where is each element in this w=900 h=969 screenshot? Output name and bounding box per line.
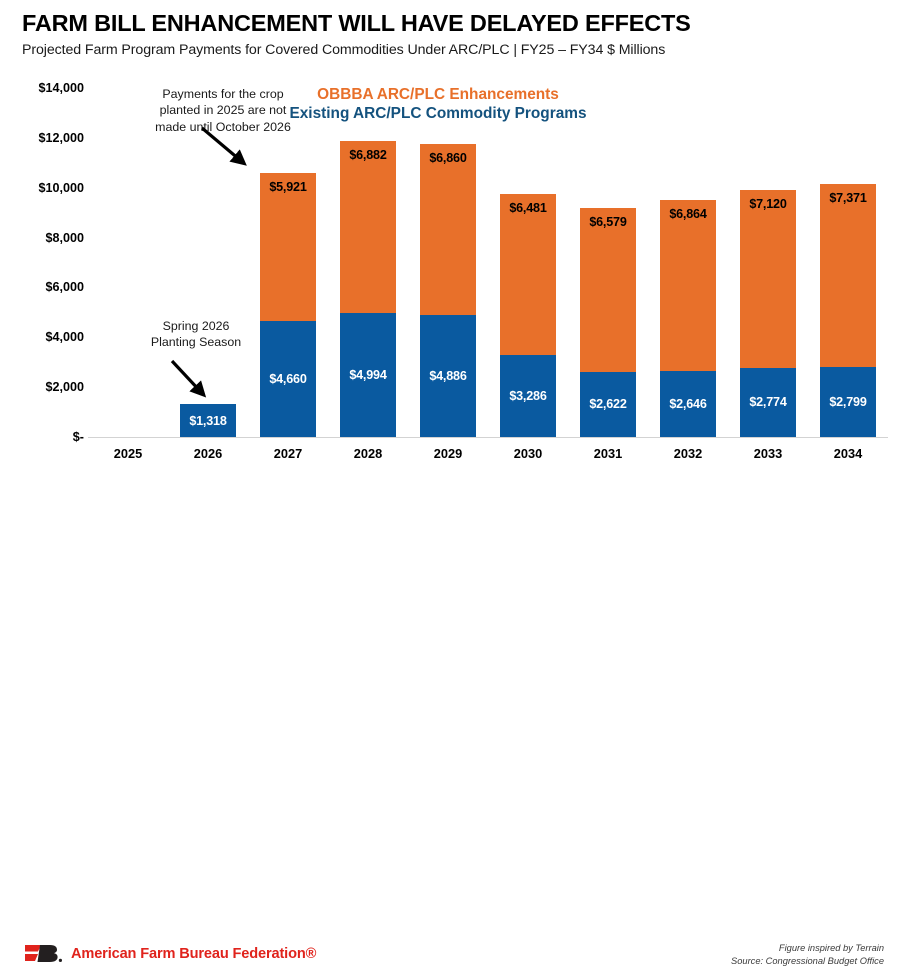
bar-segment-obbba-2032[interactable]: $6,864 <box>660 200 716 371</box>
bar-segment-obbba-2030[interactable]: $6,481 <box>500 194 556 356</box>
annotation-spring-line-1: Spring 2026 <box>112 318 280 334</box>
annotation-spring-line-2: Planting Season <box>112 334 280 350</box>
afbf-brand: American Farm Bureau Federation® <box>24 944 316 964</box>
bar-column-2028[interactable]: $4,994$6,882 <box>340 88 396 437</box>
bar-column-2031[interactable]: $2,622$6,579 <box>580 88 636 437</box>
chart-footer: American Farm Bureau Federation® Figure … <box>0 465 900 506</box>
bar-segment-obbba-2031[interactable]: $6,579 <box>580 208 636 372</box>
bar-value-label-existing-2029: $4,886 <box>429 369 466 383</box>
y-axis-tick: $10,000 <box>10 181 84 195</box>
bar-value-label-existing-2030: $3,286 <box>509 389 546 403</box>
x-axis-baseline <box>88 437 888 438</box>
bar-segment-existing-2034[interactable]: $2,799 <box>820 367 876 437</box>
y-axis-tick: $2,000 <box>10 380 84 394</box>
y-axis-tick: $4,000 <box>10 330 84 344</box>
bar-value-label-obbba-2028: $6,882 <box>349 148 386 162</box>
x-axis-tick-2027: 2027 <box>243 446 333 461</box>
bar-value-label-obbba-2030: $6,481 <box>509 201 546 215</box>
annotation-spring-planting-season: Spring 2026 Planting Season <box>112 318 280 351</box>
x-axis-tick-2034: 2034 <box>803 446 893 461</box>
bar-segment-existing-2033[interactable]: $2,774 <box>740 368 796 437</box>
y-axis-tick: $12,000 <box>10 131 84 145</box>
bar-column-2027[interactable]: $4,660$5,921 <box>260 88 316 437</box>
bar-value-label-obbba-2029: $6,860 <box>429 151 466 165</box>
bar-segment-obbba-2033[interactable]: $7,120 <box>740 190 796 367</box>
y-axis: $-$2,000$4,000$6,000$8,000$10,000$12,000… <box>0 80 84 437</box>
farm-bureau-logo-icon <box>24 944 64 964</box>
bar-value-label-existing-2031: $2,622 <box>589 397 626 411</box>
x-axis-tick-2030: 2030 <box>483 446 573 461</box>
y-axis-tick: $6,000 <box>10 280 84 294</box>
bar-value-label-existing-2026: $1,318 <box>189 414 226 428</box>
bar-column-2033[interactable]: $2,774$7,120 <box>740 88 796 437</box>
bar-value-label-obbba-2034: $7,371 <box>829 191 866 205</box>
bar-value-label-existing-2032: $2,646 <box>669 397 706 411</box>
x-axis-tick-2031: 2031 <box>563 446 653 461</box>
x-axis-tick-2028: 2028 <box>323 446 413 461</box>
x-axis-tick-2025: 2025 <box>83 446 173 461</box>
y-axis-tick: $8,000 <box>10 231 84 245</box>
bar-segment-existing-2028[interactable]: $4,994 <box>340 313 396 437</box>
bar-value-label-obbba-2033: $7,120 <box>749 197 786 211</box>
bar-value-label-obbba-2032: $6,864 <box>669 207 706 221</box>
bar-segment-existing-2026[interactable]: $1,318 <box>180 404 236 437</box>
bar-segment-existing-2029[interactable]: $4,886 <box>420 315 476 437</box>
bar-value-label-existing-2027: $4,660 <box>269 372 306 386</box>
bar-column-2029[interactable]: $4,886$6,860 <box>420 88 476 437</box>
x-axis-tick-2033: 2033 <box>723 446 813 461</box>
afbf-name: American Farm Bureau Federation® <box>71 946 316 962</box>
annotation-crop-line-2: planted in 2025 are not <box>108 102 338 118</box>
bar-value-label-existing-2028: $4,994 <box>349 368 386 382</box>
bar-value-label-obbba-2031: $6,579 <box>589 215 626 229</box>
bar-segment-obbba-2034[interactable]: $7,371 <box>820 184 876 368</box>
y-axis-tick: $14,000 <box>10 81 84 95</box>
bar-segment-existing-2030[interactable]: $3,286 <box>500 355 556 437</box>
bar-segment-existing-2031[interactable]: $2,622 <box>580 372 636 437</box>
chart-plot: $-$2,000$4,000$6,000$8,000$10,000$12,000… <box>0 0 900 506</box>
annotation-crop-line-1: Payments for the crop <box>108 86 338 102</box>
data-source: Source: Congressional Budget Office <box>731 955 884 968</box>
x-axis-tick-2026: 2026 <box>163 446 253 461</box>
bar-segment-existing-2032[interactable]: $2,646 <box>660 371 716 437</box>
x-axis-tick-2029: 2029 <box>403 446 493 461</box>
bar-segment-obbba-2027[interactable]: $5,921 <box>260 173 316 321</box>
bar-column-2032[interactable]: $2,646$6,864 <box>660 88 716 437</box>
source-notes: Figure inspired by Terrain Source: Congr… <box>731 942 884 967</box>
bar-value-label-existing-2034: $2,799 <box>829 395 866 409</box>
x-axis-tick-2032: 2032 <box>643 446 733 461</box>
bar-segment-obbba-2028[interactable]: $6,882 <box>340 141 396 313</box>
annotation-arrow-crop-icon <box>198 124 254 172</box>
figure-credit: Figure inspired by Terrain <box>731 942 884 955</box>
annotation-arrow-spring-icon <box>168 358 216 404</box>
bar-column-2034[interactable]: $2,799$7,371 <box>820 88 876 437</box>
bar-value-label-obbba-2027: $5,921 <box>269 180 306 194</box>
bar-column-2030[interactable]: $3,286$6,481 <box>500 88 556 437</box>
bar-value-label-existing-2033: $2,774 <box>749 395 786 409</box>
bar-segment-obbba-2029[interactable]: $6,860 <box>420 144 476 315</box>
bar-column-2025[interactable] <box>100 88 156 437</box>
y-axis-tick: $- <box>10 430 84 444</box>
